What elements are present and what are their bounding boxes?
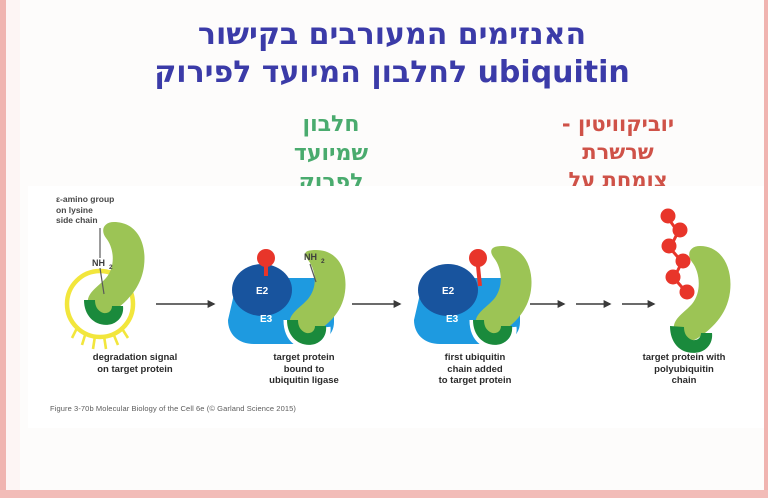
nh2-label-stage1: NH bbox=[92, 258, 105, 268]
stage-caption-polyubiquitin: target protein with polyubiquitin chain bbox=[604, 352, 764, 387]
title-line-2: ubiquitin לחלבון המיועד לפירוק bbox=[20, 54, 764, 92]
green-note-line-2: שמיועד bbox=[256, 139, 406, 168]
degradation-signal-icon bbox=[84, 300, 123, 325]
e2-label-stage3: E2 bbox=[442, 286, 455, 297]
cap4-line3: chain bbox=[604, 375, 764, 387]
e2-enzyme-icon-stage3 bbox=[418, 264, 478, 316]
stage-3-graphic: E2 E3 bbox=[414, 246, 532, 347]
cap3-line1: first ubiquitin bbox=[390, 352, 560, 364]
nh2-subscript-stage2: 2 bbox=[321, 258, 325, 265]
ubiquitin-tail-stage3 bbox=[478, 266, 480, 286]
degradation-signal-icon-stage4 bbox=[670, 326, 712, 353]
stage-2-graphic: NH 2 E2 E3 bbox=[228, 249, 346, 347]
degradation-signal-icon-stage3 bbox=[473, 320, 512, 345]
red-note-line-1: יוביקוויטין - bbox=[512, 110, 724, 138]
cap2-line1: target protein bbox=[224, 352, 384, 364]
title-line-1: האנזימים המעורבים בקישור bbox=[20, 16, 764, 54]
title-latin-ubiquitin: ubiquitin bbox=[478, 55, 630, 90]
nh2-subscript-stage1: 2 bbox=[109, 264, 113, 271]
lysine-label-line-2: on lysine bbox=[56, 205, 114, 216]
cap1-line1: degradation signal bbox=[42, 352, 228, 364]
annotation-green-target-protein: חלבון שמיועד לפרוק bbox=[256, 110, 406, 197]
lysine-label-line-1: ε-amino group bbox=[56, 194, 114, 205]
cap2-line2: bound to bbox=[224, 364, 384, 376]
e2-label: E2 bbox=[256, 286, 269, 297]
highlight-circle-icon bbox=[67, 271, 133, 337]
highlight-rays-icon bbox=[72, 326, 128, 349]
frame-edge-bottom bbox=[0, 490, 768, 498]
title-hebrew-tail: לחלבון המיועד לפירוק bbox=[154, 55, 467, 90]
target-protein-icon-stage4 bbox=[674, 246, 731, 341]
stage-caption-degradation-signal: degradation signal on target protein bbox=[42, 352, 228, 375]
cap3-line2: chain added bbox=[390, 364, 560, 376]
target-protein-icon-stage3 bbox=[476, 246, 532, 336]
pathway-diagram: NH 2 bbox=[28, 186, 764, 428]
frame-edge-right bbox=[764, 0, 768, 498]
stage-4-graphic bbox=[661, 209, 731, 353]
red-note-line-2: שרשרת bbox=[512, 138, 724, 166]
ubiquitin-icon-stage3 bbox=[469, 249, 487, 267]
e3-enzyme-icon-stage3 bbox=[414, 278, 520, 344]
stage-1-graphic: NH 2 bbox=[67, 222, 144, 349]
target-protein-icon-stage2 bbox=[290, 250, 346, 336]
cap3-line3: to target protein bbox=[390, 375, 560, 387]
nh2-leader-line-stage2 bbox=[310, 264, 316, 282]
lysine-label-line-3: side chain bbox=[56, 215, 114, 226]
polyubiquitin-chain-icon bbox=[661, 209, 695, 300]
e3-enzyme-icon bbox=[228, 278, 334, 344]
target-protein-icon bbox=[88, 222, 145, 315]
protein-gap-outline bbox=[286, 320, 328, 347]
frame-inner-left bbox=[6, 0, 20, 498]
ubiquitin-icon-stage2 bbox=[257, 249, 275, 267]
cap4-line1: target protein with bbox=[604, 352, 764, 364]
e2-enzyme-icon bbox=[232, 264, 292, 316]
stage-caption-first-ubiquitin: first ubiquitin chain added to target pr… bbox=[390, 352, 560, 387]
protein-gap-outline-stage3 bbox=[472, 320, 514, 347]
page-title: האנזימים המעורבים בקישור ubiquitin לחלבו… bbox=[20, 16, 764, 92]
degradation-signal-icon-stage2 bbox=[287, 320, 326, 345]
cap4-line2: polyubiquitin bbox=[604, 364, 764, 376]
figure-panel: ε-amino group on lysine side chain bbox=[28, 186, 764, 428]
e3-label-stage3: E3 bbox=[446, 314, 459, 325]
e3-label: E3 bbox=[260, 314, 273, 325]
nh2-label-stage2: NH bbox=[304, 252, 317, 262]
slide-root: האנזימים המעורבים בקישור ubiquitin לחלבו… bbox=[0, 0, 768, 498]
stage-caption-bound-to-ligase: target protein bound to ubiquitin ligase bbox=[224, 352, 384, 387]
figure-credit: Figure 3-70b Molecular Biology of the Ce… bbox=[50, 404, 296, 413]
nh2-leader-line bbox=[100, 268, 104, 294]
cap1-line2: on target protein bbox=[42, 364, 228, 376]
slide-canvas: האנזימים המעורבים בקישור ubiquitin לחלבו… bbox=[20, 0, 764, 490]
cap2-line3: ubiquitin ligase bbox=[224, 375, 384, 387]
green-note-line-1: חלבון bbox=[256, 110, 406, 139]
lysine-side-chain-label: ε-amino group on lysine side chain bbox=[56, 194, 114, 226]
